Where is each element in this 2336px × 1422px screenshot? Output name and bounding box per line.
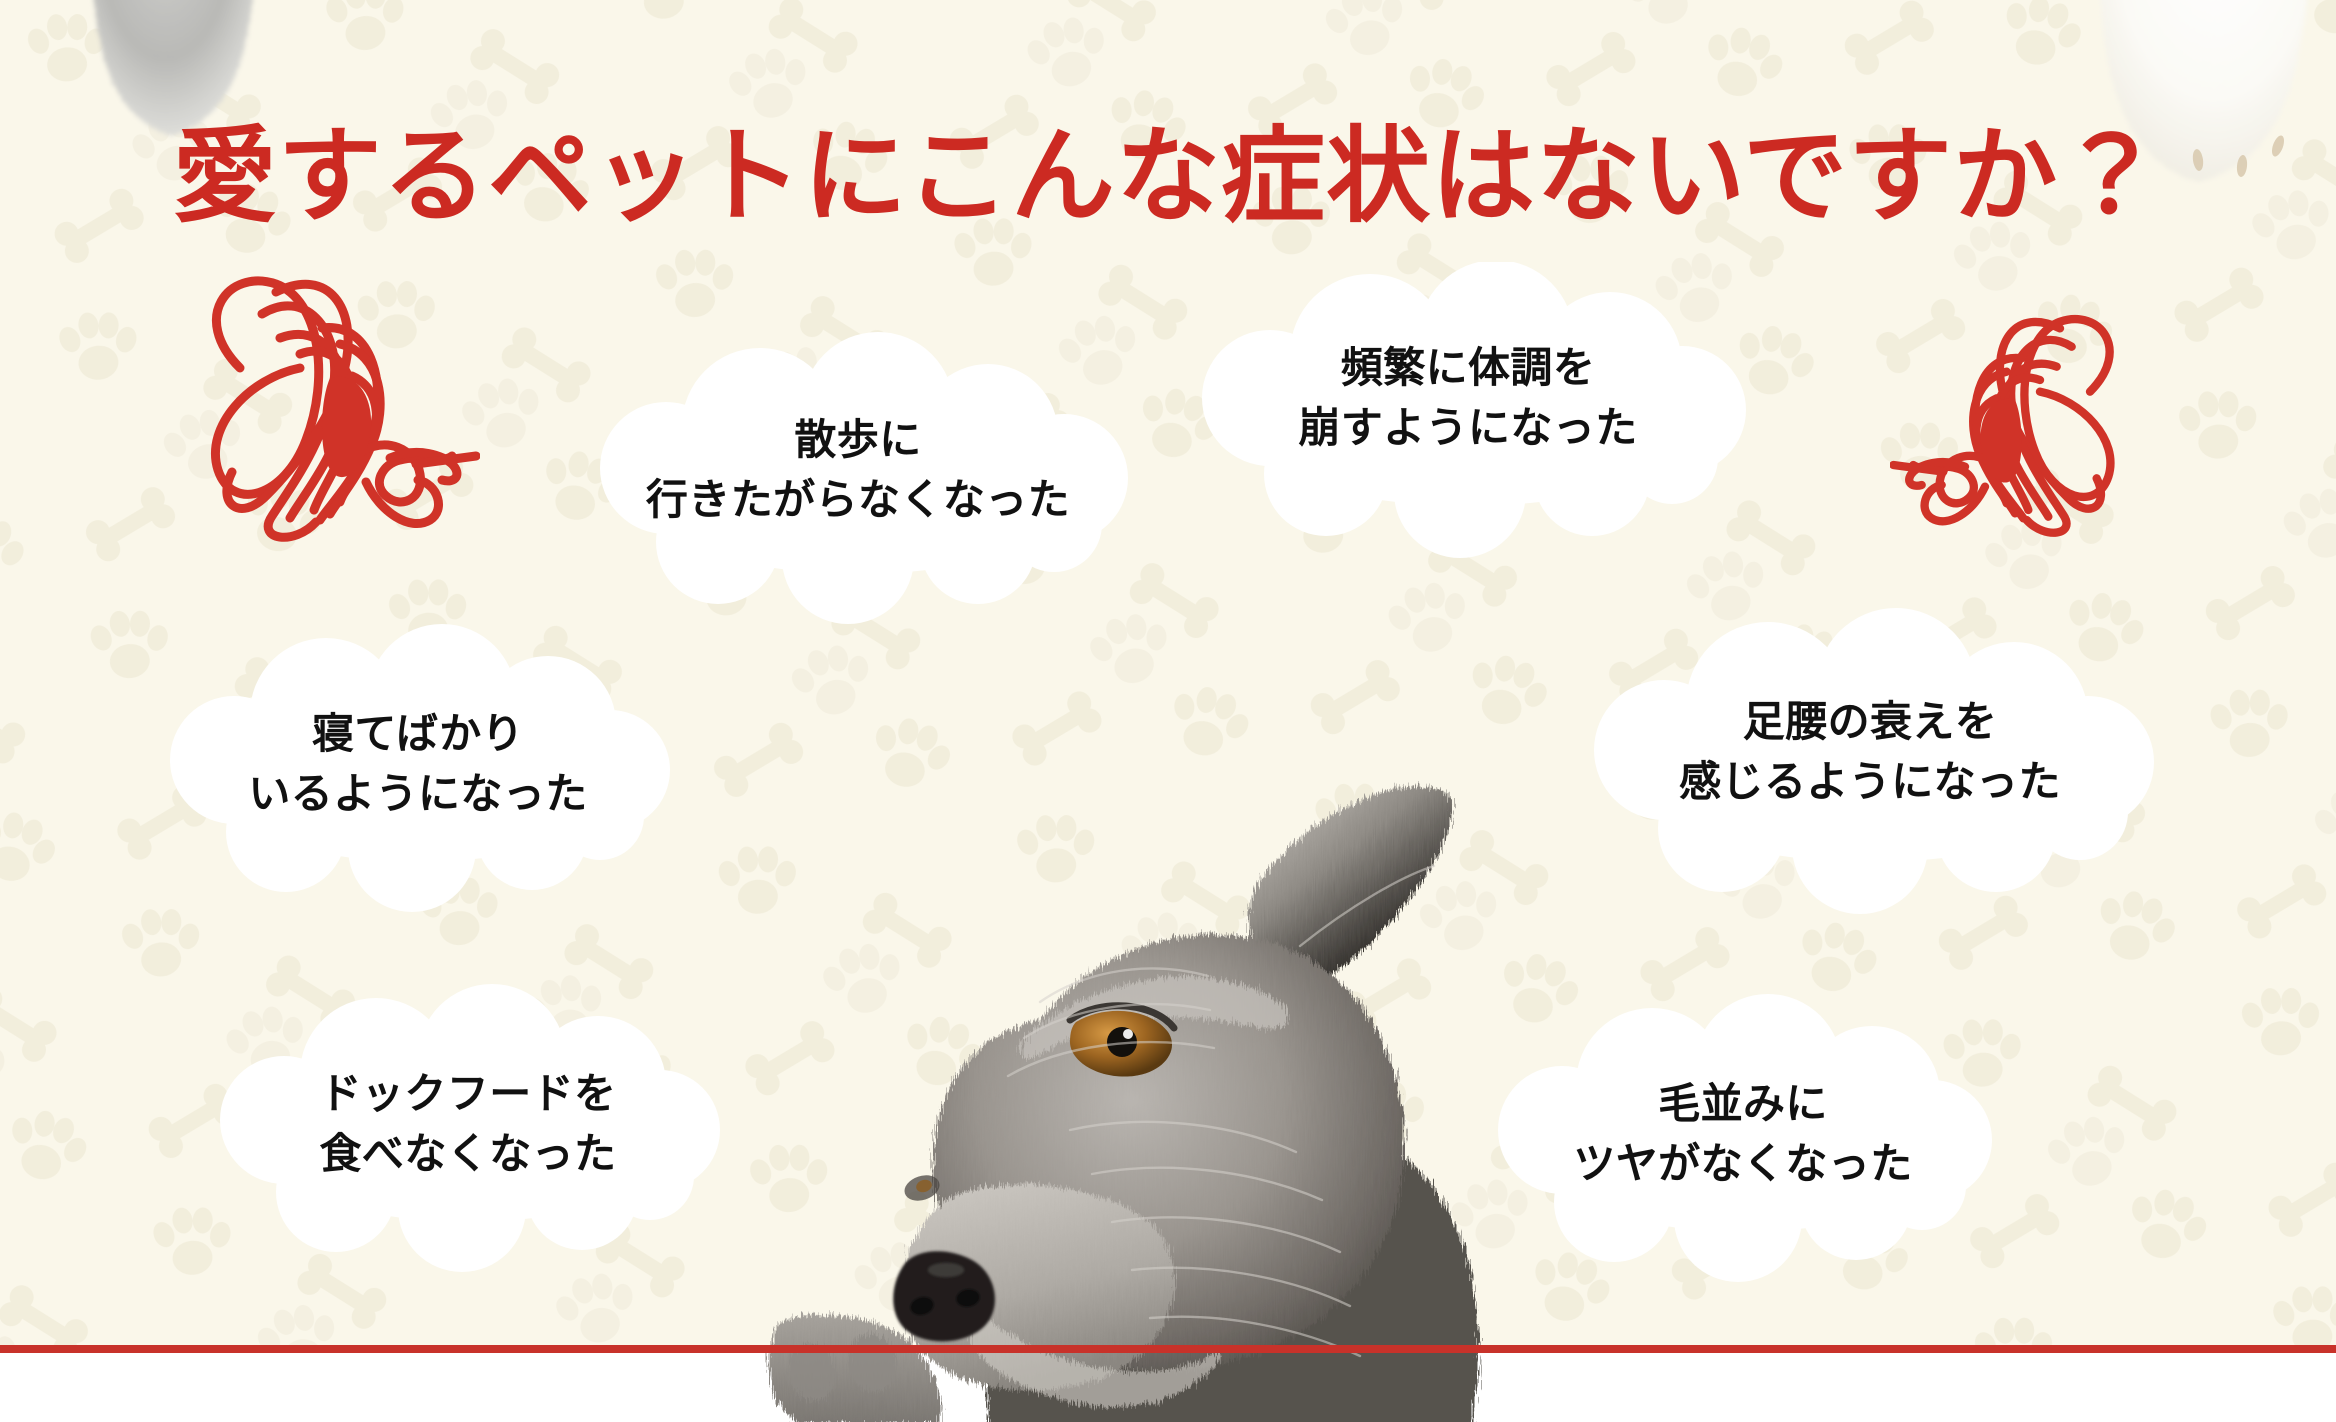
symptom-bubble-health: 頻繁に体調を 崩すようになった xyxy=(1148,262,1788,562)
symptom-text: 散歩に 行きたがらなくなった xyxy=(548,410,1168,529)
symptom-bubble-food: ドックフードを 食べなくなった xyxy=(178,978,758,1278)
symptom-bubble-sleep: 寝てばかり いるようになった xyxy=(128,618,708,918)
promo-banner: 愛するペットにこんな症状はないですか？ 散歩に 行きたがらなくなった xyxy=(0,0,2336,1422)
symptom-bubble-walk: 散歩に 行きたがらなくなった xyxy=(548,328,1168,628)
page-title: 愛するペットにこんな症状はないですか？ xyxy=(0,118,2336,238)
symptom-text: 足腰の衰えを 感じるようになった xyxy=(1540,692,2200,811)
symptom-text: 毛並みに ツヤがなくなった xyxy=(1458,1074,2028,1193)
symptom-text: 頻繁に体調を 崩すようになった xyxy=(1148,338,1788,457)
symptom-bubble-coat: 毛並みに ツヤがなくなった xyxy=(1458,988,2028,1288)
symptom-bubble-legs: 足腰の衰えを 感じるようになった xyxy=(1540,608,2200,918)
red-divider xyxy=(0,1345,2336,1353)
footer-band xyxy=(0,1353,2336,1422)
symptom-text: ドックフードを 食べなくなった xyxy=(178,1064,758,1183)
symptom-text: 寝てばかり いるようになった xyxy=(128,704,708,823)
